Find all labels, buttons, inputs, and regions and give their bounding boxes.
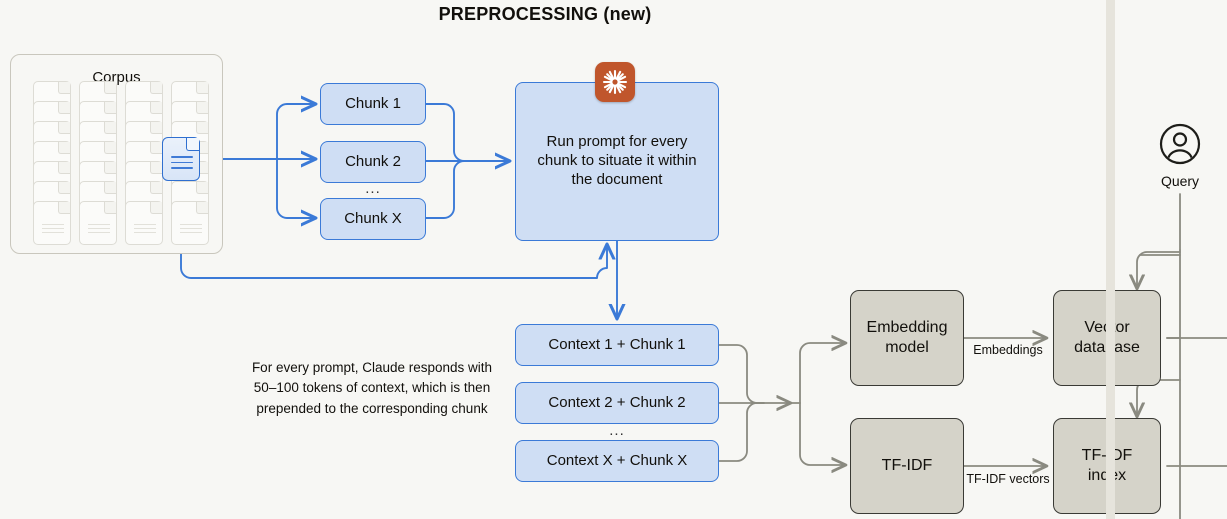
document-lines <box>42 224 64 236</box>
user-circle-icon <box>1158 122 1202 166</box>
document-fold-corner <box>104 122 116 134</box>
context-chunk-label: Context 1 + Chunk 1 <box>548 336 685 355</box>
context-ellipsis: ... <box>515 422 719 439</box>
document-fold-corner <box>150 202 162 214</box>
document-fold-corner <box>58 122 70 134</box>
document-fold-corner <box>196 82 208 94</box>
explanatory-note: For every prompt, Claude responds with 5… <box>247 358 497 419</box>
document-fold-corner <box>196 202 208 214</box>
chunk-box-1[interactable]: Chunk 1 <box>320 83 426 125</box>
document-lines <box>180 224 202 236</box>
document-fold-corner <box>104 162 116 174</box>
chunk-label: Chunk X <box>344 210 402 229</box>
chunk-label: Chunk 2 <box>345 153 401 172</box>
page-title: PREPROCESSING (new) <box>0 4 1090 25</box>
document-fold-corner <box>196 102 208 114</box>
corpus-document-icon <box>125 201 163 245</box>
run-prompt-box[interactable]: Run prompt for every chunk to situate it… <box>515 82 719 241</box>
query-node[interactable]: Query <box>1146 122 1214 189</box>
document-fold-corner <box>150 182 162 194</box>
document-fold-corner <box>104 102 116 114</box>
document-fold-corner <box>196 122 208 134</box>
document-fold-corner <box>196 182 208 194</box>
context-chunk-box-x[interactable]: Context X + Chunk X <box>515 440 719 482</box>
embedding-model-box[interactable]: Embedding model <box>850 290 964 386</box>
document-lines <box>171 156 193 173</box>
chunk-box-x[interactable]: Chunk X <box>320 198 426 240</box>
context-chunk-label: Context 2 + Chunk 2 <box>548 394 685 413</box>
document-lines <box>134 224 156 236</box>
document-fold-corner <box>150 142 162 154</box>
document-fold-corner <box>150 122 162 134</box>
tfidf-label: TF-IDF <box>882 456 933 476</box>
document-fold-corner <box>58 82 70 94</box>
context-chunk-box-2[interactable]: Context 2 + Chunk 2 <box>515 382 719 424</box>
document-fold-corner <box>150 162 162 174</box>
tfidf-box[interactable]: TF-IDF <box>850 418 964 514</box>
document-fold-corner <box>58 182 70 194</box>
document-fold-corner <box>104 182 116 194</box>
corpus-document-icon <box>33 201 71 245</box>
document-fold-corner <box>186 138 199 151</box>
embeddings-edge-label: Embeddings <box>963 343 1053 359</box>
document-fold-corner <box>58 102 70 114</box>
diagram-canvas: PREPROCESSING (new) <box>0 0 1227 519</box>
corpus-document-icon <box>171 201 209 245</box>
document-fold-corner <box>58 142 70 154</box>
document-fold-corner <box>58 162 70 174</box>
tfidf-vectors-edge-label: TF-IDF vectors <box>963 472 1053 488</box>
embedding-model-label: Embedding model <box>861 318 953 358</box>
query-label: Query <box>1146 173 1214 189</box>
document-fold-corner <box>150 82 162 94</box>
document-fold-corner <box>104 142 116 154</box>
context-chunk-box-1[interactable]: Context 1 + Chunk 1 <box>515 324 719 366</box>
document-fold-corner <box>104 82 116 94</box>
section-divider <box>1106 0 1115 519</box>
run-prompt-text: Run prompt for every chunk to situate it… <box>534 133 700 190</box>
document-lines <box>88 224 110 236</box>
corpus-document-icon <box>79 201 117 245</box>
document-fold-corner <box>58 202 70 214</box>
chunks-ellipsis: ... <box>320 180 426 197</box>
context-chunk-label: Context X + Chunk X <box>547 452 688 471</box>
document-fold-corner <box>104 202 116 214</box>
chunk-box-2[interactable]: Chunk 2 <box>320 141 426 183</box>
anthropic-starburst-icon <box>595 62 635 102</box>
chunk-label: Chunk 1 <box>345 95 401 114</box>
highlighted-document-icon[interactable] <box>162 137 200 181</box>
document-fold-corner <box>150 102 162 114</box>
